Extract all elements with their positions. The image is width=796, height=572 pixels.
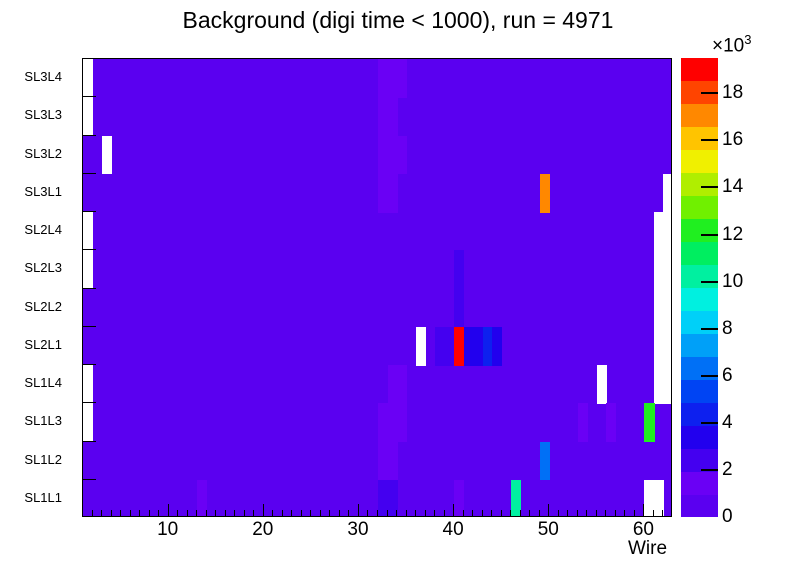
- heatmap-cell: [606, 403, 616, 442]
- x-axis-tick: [263, 504, 264, 517]
- x-axis-tick: [206, 510, 207, 517]
- x-axis-tick: [225, 510, 226, 517]
- x-axis-tick: [472, 510, 473, 517]
- color-scale-tick-label: 16: [722, 129, 743, 151]
- heatmap-cell: [492, 327, 502, 366]
- x-axis-tick: [577, 510, 578, 517]
- color-scale-band: [681, 448, 718, 471]
- y-axis-tick-label: SL3L3: [24, 107, 62, 122]
- color-scale-exponent-base: ×10: [712, 35, 744, 56]
- heatmap-cell: [597, 365, 607, 404]
- x-axis-tick: [520, 510, 521, 517]
- heatmap-cell: [663, 250, 672, 289]
- x-axis-tick: [491, 510, 492, 517]
- x-axis-tick: [177, 510, 178, 517]
- heatmap-cell: [397, 59, 407, 98]
- x-axis-tick: [558, 510, 559, 517]
- color-scale-tick-label: 18: [722, 82, 743, 104]
- color-scale-tick-label: 0: [722, 506, 733, 528]
- color-scale-tick-label: 14: [722, 176, 743, 198]
- x-axis-tick: [425, 510, 426, 517]
- heatmap-cell: [397, 136, 407, 175]
- color-scale-band: [681, 219, 718, 242]
- heatmap-cell: [663, 289, 672, 328]
- color-scale-tick-label: 4: [722, 412, 733, 434]
- y-axis-tick: [82, 326, 96, 327]
- heatmap-cell: [388, 97, 398, 136]
- y-axis-labels: SL1L1SL1L2SL1L3SL1L4SL2L1SL2L2SL2L3SL2L4…: [0, 58, 76, 517]
- x-axis-tick: [101, 510, 102, 517]
- x-axis-labels: 102030405060: [0, 519, 796, 549]
- x-axis-tick: [149, 510, 150, 517]
- x-axis-title: Wire: [628, 538, 667, 560]
- heatmap-cell: [454, 289, 464, 328]
- x-axis-tick: [358, 504, 359, 517]
- heatmap-cells: [83, 59, 671, 516]
- x-axis-tick: [396, 510, 397, 517]
- x-axis-tick: [339, 510, 340, 517]
- x-axis-tick: [139, 510, 140, 517]
- color-scale-band: [681, 58, 718, 81]
- y-axis-tick-label: SL1L2: [24, 452, 62, 467]
- y-axis-tick-label: SL2L4: [24, 222, 62, 237]
- x-axis-tick-label: 40: [443, 519, 464, 541]
- x-axis-tick: [387, 510, 388, 517]
- color-scale-band: [681, 379, 718, 402]
- color-scale-band: [681, 104, 718, 127]
- color-scale-tick-label: 2: [722, 459, 733, 481]
- color-scale-band: [681, 356, 718, 379]
- x-axis-tick: [234, 510, 235, 517]
- y-axis-tick-label: SL1L3: [24, 413, 62, 428]
- x-axis-tick: [406, 510, 407, 517]
- x-axis-tick: [320, 510, 321, 517]
- heatmap-cell: [578, 403, 588, 442]
- color-scale-band: [681, 265, 718, 288]
- page-title: Background (digi time < 1000), run = 497…: [0, 7, 796, 34]
- y-axis-tick-label: SL3L1: [24, 184, 62, 199]
- x-axis-tick: [130, 510, 131, 517]
- color-scale-band: [681, 288, 718, 311]
- y-axis-tick-label: SL2L3: [24, 260, 62, 275]
- y-axis-tick: [82, 173, 96, 174]
- heatmap-cell: [663, 212, 672, 251]
- y-axis-tick: [82, 288, 96, 289]
- x-axis-tick: [196, 510, 197, 517]
- color-scale-tick-label: 6: [722, 365, 733, 387]
- heatmap-cell: [416, 327, 426, 366]
- heatmap-cell: [83, 97, 93, 136]
- x-axis-tick: [463, 510, 464, 517]
- color-scale-band: [681, 150, 718, 173]
- x-axis-tick-label: 20: [252, 519, 273, 541]
- heatmap-cell: [102, 136, 112, 175]
- y-axis-tick: [82, 441, 96, 442]
- x-axis-tick: [510, 510, 511, 517]
- histogram-plot-area[interactable]: [82, 58, 672, 517]
- heatmap-cell: [454, 250, 464, 289]
- x-axis-tick: [310, 510, 311, 517]
- y-axis-tick: [82, 211, 96, 212]
- x-axis-tick: [548, 504, 549, 517]
- x-axis-tick: [624, 510, 625, 517]
- x-axis-tick: [539, 510, 540, 517]
- heatmap-cell: [397, 365, 407, 404]
- x-axis-tick-label: 10: [157, 519, 178, 541]
- color-scale-band: [681, 494, 718, 517]
- x-axis-tick: [453, 504, 454, 517]
- color-scale-bar[interactable]: [681, 58, 718, 517]
- x-axis-tick: [215, 510, 216, 517]
- x-axis-tick: [120, 510, 121, 517]
- y-axis-tick: [82, 479, 96, 480]
- y-axis-tick-label: SL3L2: [24, 146, 62, 161]
- y-axis-tick: [82, 249, 96, 250]
- x-axis-tick: [168, 504, 169, 517]
- y-axis-tick-label: SL3L4: [24, 69, 62, 84]
- color-scale-band: [681, 402, 718, 425]
- root-canvas: Background (digi time < 1000), run = 497…: [0, 0, 796, 572]
- x-axis-tick: [291, 510, 292, 517]
- heatmap-cell: [663, 365, 672, 404]
- x-axis-tick: [501, 510, 502, 517]
- y-axis-tick-label: SL2L1: [24, 337, 62, 352]
- color-scale-band: [681, 333, 718, 356]
- heatmap-cell: [644, 403, 654, 442]
- color-scale-tick-label: 12: [722, 224, 743, 246]
- color-scale-band: [681, 127, 718, 150]
- color-scale-tick-label: 10: [722, 271, 743, 293]
- heatmap-cell: [83, 365, 93, 404]
- x-axis-tick: [111, 510, 112, 517]
- heatmap-cell: [83, 212, 93, 251]
- x-axis-tick: [634, 510, 635, 517]
- x-axis-tick: [301, 510, 302, 517]
- heatmap-cell: [83, 59, 93, 98]
- x-axis-tick: [282, 510, 283, 517]
- heatmap-cell: [663, 327, 672, 366]
- heatmap-cell: [83, 403, 93, 442]
- x-axis-tick: [482, 510, 483, 517]
- x-axis-tick-label: 30: [347, 519, 368, 541]
- x-axis-tick: [643, 504, 644, 517]
- x-axis-tick: [653, 510, 654, 517]
- color-scale-tick-label: 8: [722, 318, 733, 340]
- x-axis-tick: [662, 510, 663, 517]
- x-axis-tick: [567, 510, 568, 517]
- x-axis-tick: [272, 510, 273, 517]
- x-axis-tick: [253, 510, 254, 517]
- x-axis-tick: [329, 510, 330, 517]
- color-scale-band: [681, 173, 718, 196]
- heatmap-cell: [83, 250, 93, 289]
- heatmap-cell: [540, 442, 550, 481]
- x-axis-tick: [82, 510, 83, 517]
- heatmap-cell: [540, 174, 550, 213]
- y-axis-tick: [82, 135, 96, 136]
- heatmap-cell: [388, 442, 398, 481]
- color-scale-exponent: ×103: [712, 32, 751, 57]
- x-axis-tick-label: 50: [538, 519, 559, 541]
- x-axis-tick: [529, 510, 530, 517]
- x-axis-tick: [434, 510, 435, 517]
- x-axis-tick: [444, 510, 445, 517]
- x-axis-tick: [187, 510, 188, 517]
- color-scale-band: [681, 471, 718, 494]
- x-axis-tick: [615, 510, 616, 517]
- y-axis-tick: [82, 364, 96, 365]
- color-scale-band: [681, 425, 718, 448]
- color-scale-band: [681, 310, 718, 333]
- color-scale-labels: 024681012141618: [722, 58, 792, 517]
- x-axis-tick: [586, 510, 587, 517]
- x-axis-tick: [367, 510, 368, 517]
- y-axis-tick-label: SL1L4: [24, 375, 62, 390]
- x-axis-tick: [158, 510, 159, 517]
- color-scale-band: [681, 81, 718, 104]
- y-axis-tick: [82, 58, 96, 59]
- x-axis-tick: [348, 510, 349, 517]
- color-scale-band: [681, 196, 718, 219]
- x-axis-tick: [596, 510, 597, 517]
- heatmap-cell: [397, 403, 407, 442]
- y-axis-tick-label: SL2L2: [24, 299, 62, 314]
- x-axis-tick: [92, 510, 93, 517]
- x-axis-tick: [377, 510, 378, 517]
- x-axis-tick: [415, 510, 416, 517]
- heatmap-background: [83, 59, 671, 516]
- heatmap-cell: [388, 174, 398, 213]
- heatmap-cell: [663, 174, 672, 213]
- color-scale-exponent-power: 3: [744, 32, 751, 47]
- y-axis-tick: [82, 96, 96, 97]
- y-axis-tick-label: SL1L1: [24, 490, 62, 505]
- x-axis-tick: [605, 510, 606, 517]
- color-scale-band: [681, 242, 718, 265]
- x-axis-tick: [244, 510, 245, 517]
- y-axis-tick: [82, 402, 96, 403]
